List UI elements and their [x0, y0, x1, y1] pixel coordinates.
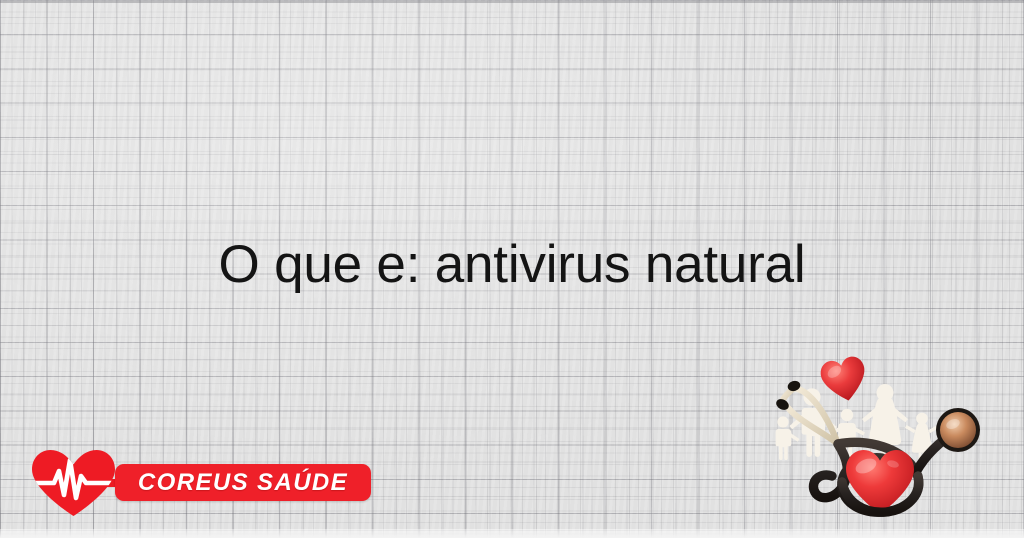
stethoscope-chest-piece-icon — [936, 408, 980, 452]
page-title: O que e: antivirus natural — [0, 234, 1024, 296]
thumbnail-canvas: O que e: antivirus natural COREUS SAÚDE — [0, 0, 1024, 538]
brand-name-label: COREUS SAÚDE — [115, 469, 371, 497]
small-heart-icon — [818, 354, 870, 405]
background-top-rule — [0, 1, 1024, 3]
brand-badge: COREUS SAÚDE — [115, 464, 371, 501]
brand-logo: COREUS SAÚDE — [28, 446, 358, 520]
health-collage — [766, 344, 1016, 534]
